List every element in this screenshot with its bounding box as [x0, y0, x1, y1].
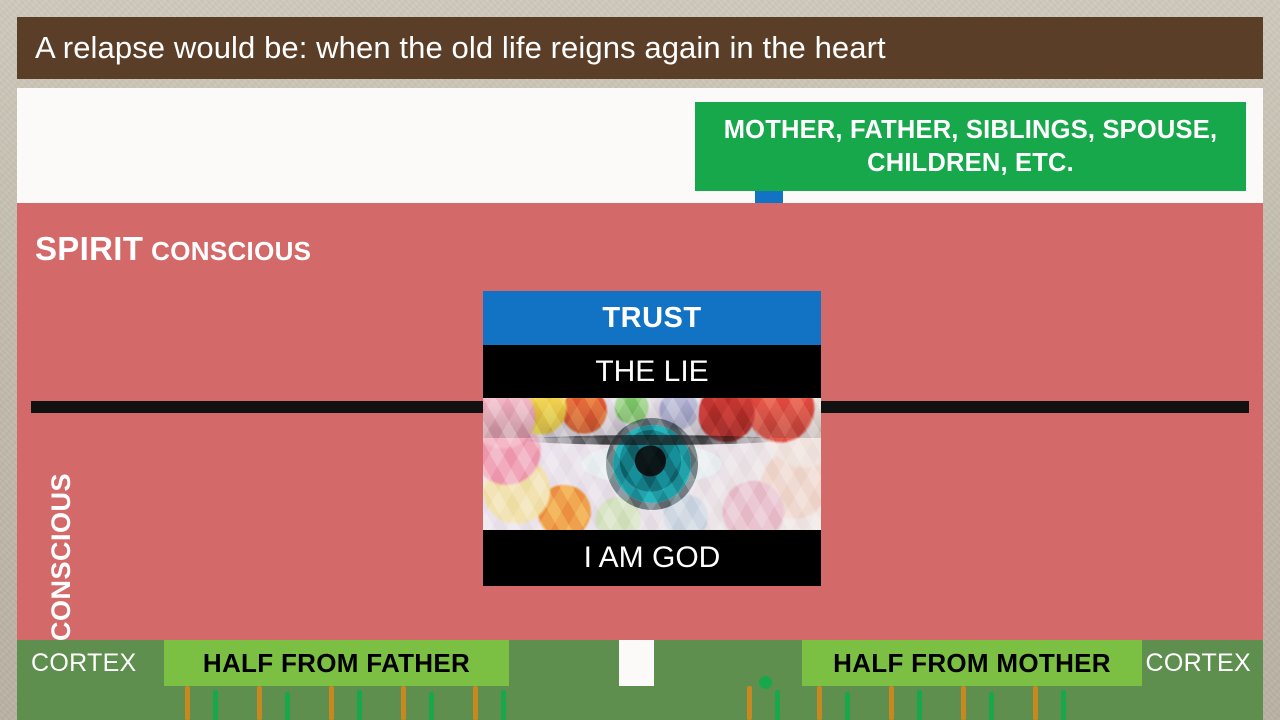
- mosaic-eye-image: [483, 398, 821, 530]
- chromosome-stem: [845, 692, 850, 720]
- chromosome-stem: [961, 686, 966, 720]
- family-members-box: MOTHER, FATHER, SIBLINGS, SPOUSE, CHILDR…: [695, 102, 1246, 191]
- slide-title-bar: A relapse would be: when the old life re…: [17, 17, 1263, 79]
- chromosome-stem: [775, 690, 780, 720]
- page-title: A relapse would be: when the old life re…: [17, 30, 886, 66]
- cortex-chromosome-bar: CORTEX HALF FROM FATHER HALF FROM MOTHER…: [17, 640, 1263, 720]
- chromosome-stem: [473, 686, 478, 720]
- i-am-god-band: I AM GOD: [483, 530, 821, 586]
- chromosome-stem: [401, 686, 406, 720]
- chromosome-stem: [185, 686, 190, 720]
- chromosome-stem: [1033, 686, 1038, 720]
- chromosome-gap: [619, 640, 654, 686]
- chromosome-stem: [257, 686, 262, 720]
- chromosome-stem: [917, 690, 922, 720]
- chromosome-stem: [213, 690, 218, 720]
- chromosome-stem: [817, 686, 822, 720]
- half-from-father-box: HALF FROM FATHER: [164, 640, 509, 686]
- chromosome-stem: [501, 690, 506, 720]
- trust-band: TRUST: [483, 291, 821, 345]
- chromosome-dot: [759, 676, 772, 689]
- family-members-label: MOTHER, FATHER, SIBLINGS, SPOUSE, CHILDR…: [695, 114, 1246, 179]
- spirit-word: SPIRIT: [35, 230, 143, 267]
- belief-stack: TRUST THE LIE I AM GOD: [483, 291, 821, 586]
- conscious-word: CONSCIOUS: [151, 236, 311, 266]
- chromosome-stem: [285, 692, 290, 720]
- cortex-label-right: CORTEX: [1145, 640, 1251, 686]
- spirit-conscious-label: SPIRITCONSCIOUS: [35, 230, 311, 268]
- chromosome-stem: [329, 686, 334, 720]
- chromosome-stem: [357, 690, 362, 720]
- slide-content-area: MOTHER, FATHER, SIBLINGS, SPOUSE, CHILDR…: [17, 88, 1263, 720]
- chromosome-strip: [17, 686, 1263, 720]
- slide-canvas: A relapse would be: when the old life re…: [0, 0, 1280, 720]
- chromosome-stem: [1061, 690, 1066, 720]
- cortex-label-left: CORTEX: [31, 640, 137, 686]
- chromosome-stem: [429, 692, 434, 720]
- chromosome-stem: [747, 686, 752, 720]
- mosaic-facet-overlay: [483, 398, 821, 530]
- the-lie-band: THE LIE: [483, 345, 821, 398]
- half-from-mother-box: HALF FROM MOTHER: [802, 640, 1142, 686]
- chromosome-stem: [889, 686, 894, 720]
- chromosome-stem: [989, 692, 994, 720]
